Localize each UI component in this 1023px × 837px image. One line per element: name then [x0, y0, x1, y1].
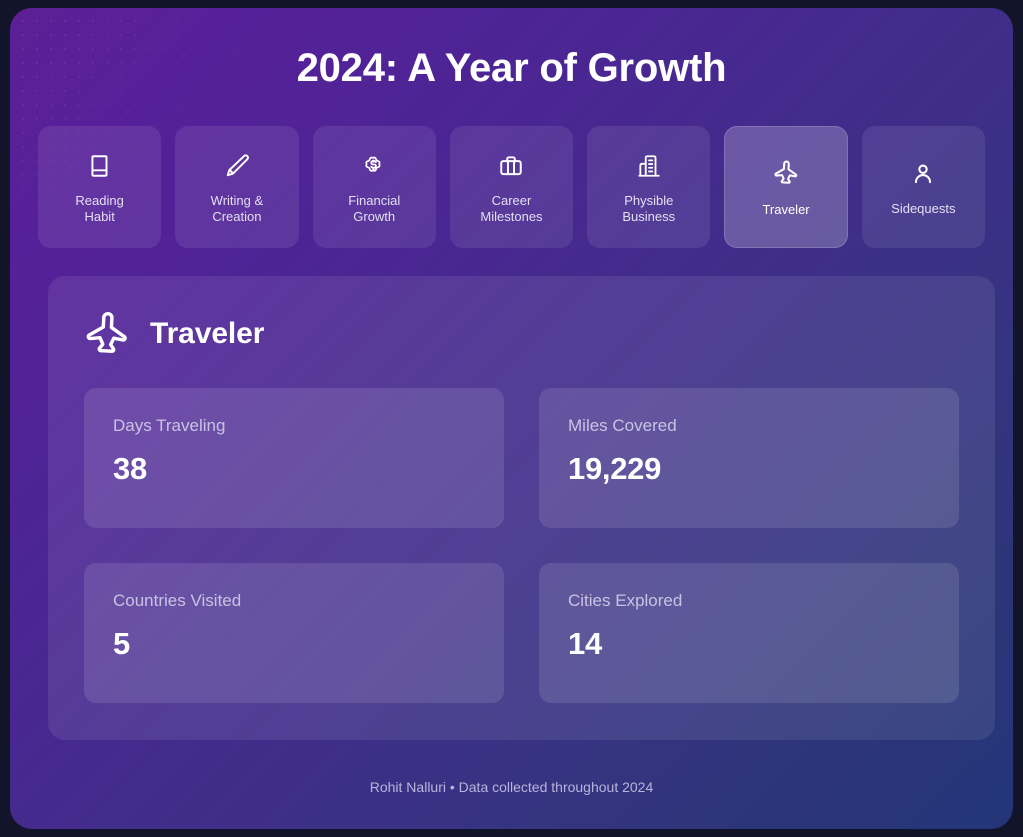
stat-value: 19,229 [568, 451, 930, 487]
badge-dollar-icon [361, 153, 387, 179]
book-icon [87, 153, 113, 179]
plane-icon [773, 160, 799, 186]
stat-card: Miles Covered19,229 [539, 388, 959, 528]
tab-sidequests[interactable]: Sidequests [862, 126, 985, 248]
stat-value: 5 [113, 626, 475, 662]
stat-value: 14 [568, 626, 930, 662]
stat-card-grid: Days Traveling38Miles Covered19,229Count… [84, 388, 959, 703]
tab-financial-growth[interactable]: Financial Growth [313, 126, 436, 248]
stat-card: Cities Explored14 [539, 563, 959, 703]
stat-card: Countries Visited5 [84, 563, 504, 703]
category-tab-strip: Reading HabitWriting & CreationFinancial… [38, 126, 985, 248]
page-card: 2024: A Year of Growth Reading HabitWrit… [10, 8, 1013, 829]
plane-icon [84, 311, 130, 357]
stat-label: Days Traveling [113, 415, 475, 437]
panel-title: Traveler [150, 317, 264, 351]
tab-label: Career Milestones [480, 193, 542, 225]
app-root: 2024: A Year of Growth Reading HabitWrit… [0, 0, 1023, 837]
page-footer: Rohit Nalluri • Data collected throughou… [10, 779, 1013, 795]
stat-value: 38 [113, 451, 475, 487]
tab-label: Traveler [762, 202, 809, 218]
briefcase-icon [498, 153, 524, 179]
stat-label: Cities Explored [568, 590, 930, 612]
user-icon [910, 161, 936, 187]
tab-physible-business[interactable]: Physible Business [587, 126, 710, 248]
tab-label: Sidequests [891, 201, 955, 217]
tab-label: Physible Business [622, 193, 675, 225]
stat-label: Miles Covered [568, 415, 930, 437]
tab-traveler[interactable]: Traveler [724, 126, 847, 248]
tab-reading-habit[interactable]: Reading Habit [38, 126, 161, 248]
stat-card: Days Traveling38 [84, 388, 504, 528]
stat-label: Countries Visited [113, 590, 475, 612]
panel-header: Traveler [84, 310, 959, 358]
tab-label: Writing & Creation [211, 193, 264, 225]
building-icon [636, 153, 662, 179]
page-title: 2024: A Year of Growth [10, 44, 1013, 92]
tab-writing-creation[interactable]: Writing & Creation [175, 126, 298, 248]
tab-label: Financial Growth [348, 193, 400, 225]
tab-career-milestones[interactable]: Career Milestones [450, 126, 573, 248]
content-panel: Traveler Days Traveling38Miles Covered19… [48, 276, 995, 740]
pen-icon [224, 153, 250, 179]
tab-label: Reading Habit [75, 193, 123, 225]
